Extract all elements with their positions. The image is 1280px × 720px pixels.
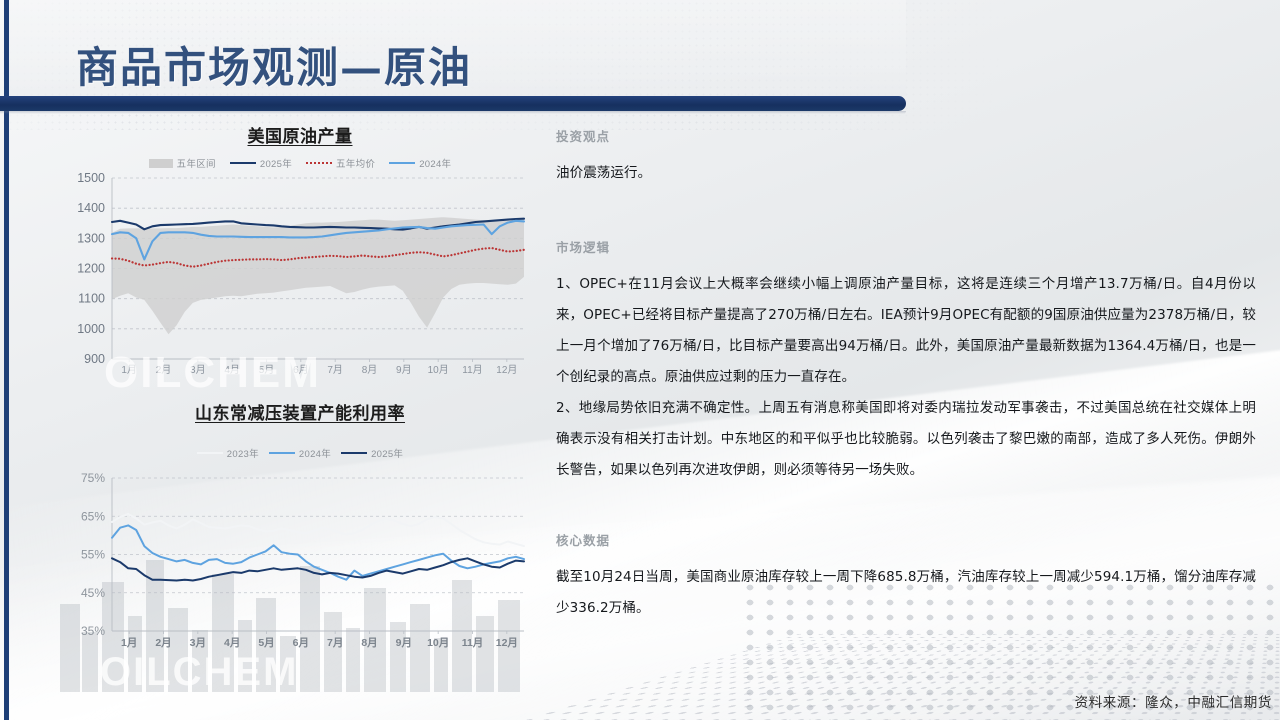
- investment-view-text: 油价震荡运行。: [556, 158, 1256, 189]
- chart2-canvas: 35%45%55%65%75%1月2月3月4月5月6月7月8月9月10月11月1…: [60, 460, 530, 655]
- legend-label: 五年均价: [336, 156, 375, 170]
- svg-text:11月: 11月: [462, 364, 482, 376]
- section-heading-market-logic: 市场逻辑: [556, 237, 1256, 256]
- svg-text:12月: 12月: [496, 637, 518, 649]
- svg-text:6月: 6月: [293, 364, 309, 376]
- svg-text:2月: 2月: [155, 637, 171, 649]
- svg-text:10月: 10月: [427, 637, 449, 649]
- chart-us-crude-production: 美国原油产量 五年区间 2025年 五年均价 2024年: [60, 122, 540, 385]
- section-body-market-logic: 1、OPEC+在11月会议上大概率会继续小幅上调原油产量目标，这将是连续三个月增…: [556, 269, 1256, 486]
- chart1-title: 美国原油产量: [60, 122, 540, 147]
- chart1-legend: 五年区间 2025年 五年均价 2024年: [60, 156, 540, 170]
- market-logic-paragraph-2: 2、地缘局势依旧充满不确定性。上周五有消息称美国即将对委内瑞拉发动军事袭击，不过…: [556, 393, 1256, 486]
- legend-item-2023: 2023年: [197, 446, 259, 460]
- svg-text:5月: 5月: [258, 637, 274, 649]
- header-band-shadow: [0, 111, 906, 114]
- svg-text:1500: 1500: [77, 171, 105, 185]
- source-attribution: 资料来源：隆众，中融汇信期货: [1075, 691, 1272, 711]
- svg-text:1月: 1月: [121, 637, 137, 649]
- svg-text:1400: 1400: [77, 201, 105, 215]
- commentary-column: 投资观点 油价震荡运行。 市场逻辑 1、OPEC+在11月会议上大概率会继续小幅…: [556, 126, 1256, 624]
- svg-text:65%: 65%: [81, 509, 105, 523]
- charts-column: 美国原油产量 五年区间 2025年 五年均价 2024年: [60, 122, 540, 702]
- chart2-legend: 2023年 2024年 2025年: [60, 446, 540, 460]
- legend-item-2024: 2024年: [269, 446, 331, 460]
- svg-text:3月: 3月: [190, 637, 206, 649]
- section-heading-investment-view: 投资观点: [556, 126, 1256, 145]
- svg-text:3月: 3月: [190, 364, 206, 376]
- svg-text:35%: 35%: [81, 624, 105, 638]
- section-heading-core-data: 核心数据: [556, 530, 1256, 549]
- legend-label: 五年区间: [177, 156, 216, 170]
- legend-line-2023: [197, 452, 223, 454]
- chart1-plot: 9001000110012001300140015001月2月3月4月5月6月7…: [60, 170, 540, 385]
- legend-label: 2024年: [419, 156, 451, 170]
- header-accent-band: [0, 96, 906, 111]
- market-logic-paragraph-1: 1、OPEC+在11月会议上大概率会继续小幅上调原油产量目标，这将是连续三个月增…: [556, 269, 1256, 393]
- legend-swatch-band: [149, 159, 173, 168]
- svg-text:1000: 1000: [77, 322, 105, 336]
- legend-label: 2023年: [227, 446, 259, 460]
- legend-label: 2025年: [260, 156, 292, 170]
- chart2-title: 山东常减压装置产能利用率: [60, 399, 540, 424]
- svg-text:2月: 2月: [156, 364, 172, 376]
- section-body-core-data: 截至10月24日当周，美国商业原油库存较上一周下降685.8万桶，汽油库存较上一…: [556, 562, 1256, 624]
- svg-text:4月: 4月: [224, 364, 240, 376]
- chart-shandong-cdu-utilization: 山东常减压装置产能利用率 2023年 2024年 2025年 35%45%55%…: [60, 399, 540, 655]
- legend-item-2025: 2025年: [230, 156, 292, 170]
- svg-text:1100: 1100: [78, 292, 105, 306]
- chart1-canvas: 9001000110012001300140015001月2月3月4月5月6月7…: [60, 170, 530, 385]
- legend-line-2025: [230, 162, 256, 164]
- svg-text:75%: 75%: [81, 471, 105, 485]
- legend-line-average: [306, 162, 332, 164]
- svg-text:12月: 12月: [496, 364, 517, 376]
- svg-text:1月: 1月: [121, 364, 137, 376]
- svg-text:8月: 8月: [362, 364, 378, 376]
- svg-text:5月: 5月: [259, 364, 275, 376]
- svg-text:900: 900: [84, 352, 105, 366]
- svg-text:7月: 7月: [327, 364, 343, 376]
- legend-item-2024: 2024年: [389, 156, 451, 170]
- legend-item-five-year-range: 五年区间: [149, 156, 216, 170]
- legend-line-2025: [341, 452, 367, 454]
- core-data-text: 截至10月24日当周，美国商业原油库存较上一周下降685.8万桶，汽油库存较上一…: [556, 562, 1256, 624]
- svg-text:45%: 45%: [81, 586, 105, 600]
- legend-item-five-year-average: 五年均价: [306, 156, 375, 170]
- svg-text:7月: 7月: [327, 637, 343, 649]
- svg-text:8月: 8月: [361, 637, 377, 649]
- spacer: [556, 486, 1256, 530]
- svg-text:6月: 6月: [293, 637, 309, 649]
- svg-text:10月: 10月: [428, 364, 449, 376]
- svg-text:9月: 9月: [396, 637, 412, 649]
- svg-text:1200: 1200: [77, 262, 105, 276]
- legend-label: 2024年: [299, 446, 331, 460]
- legend-line-2024: [269, 452, 295, 454]
- slide-root: 商品市场观测—原油 美国原油产量 五年区间 2025年 五年均价: [0, 0, 1280, 720]
- page-title: 商品市场观测—原油: [76, 34, 472, 95]
- legend-item-2025: 2025年: [341, 446, 403, 460]
- section-body-investment-view: 油价震荡运行。: [556, 158, 1256, 189]
- svg-text:11月: 11月: [462, 637, 484, 649]
- svg-text:4月: 4月: [224, 637, 240, 649]
- chart2-plot: 35%45%55%65%75%1月2月3月4月5月6月7月8月9月10月11月1…: [60, 460, 540, 655]
- spacer: [556, 189, 1256, 237]
- svg-text:55%: 55%: [81, 548, 105, 562]
- legend-line-2024: [389, 162, 415, 164]
- legend-label: 2025年: [371, 446, 403, 460]
- svg-text:9月: 9月: [396, 364, 412, 376]
- svg-text:1300: 1300: [77, 231, 105, 245]
